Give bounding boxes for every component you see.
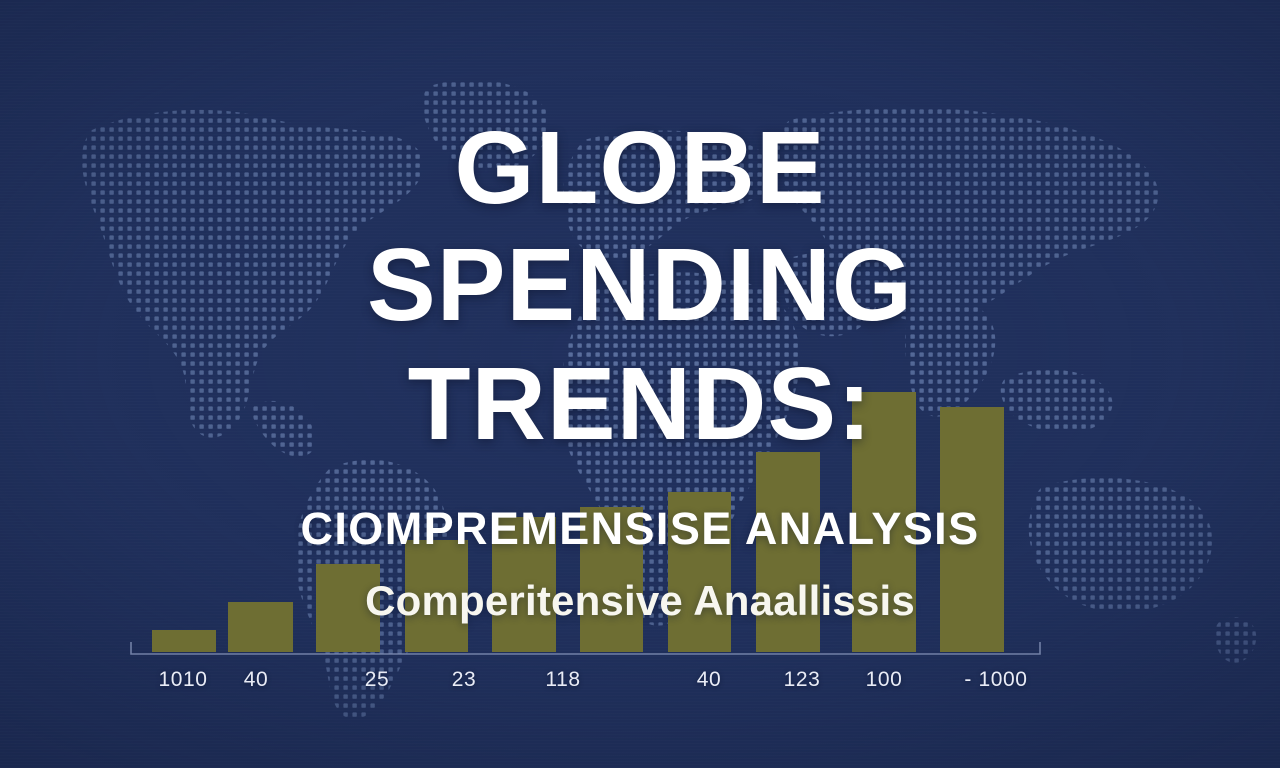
title-block: GLOBE SPENDING TRENDS: CIOMPREMENSISE AN…	[0, 118, 1280, 625]
subtitle-lowercase: Comperitensive Anaallissis	[0, 577, 1280, 625]
axis-tick-label: 23	[452, 668, 477, 692]
axis-tick-label: 25	[365, 668, 390, 692]
title-line-3: TRENDS:	[0, 354, 1280, 455]
poster-canvas: GLOBE SPENDING TRENDS: CIOMPREMENSISE AN…	[0, 0, 1280, 768]
axis-tick-label: 40	[244, 668, 269, 692]
axis-tick-label: 40	[697, 668, 722, 692]
axis-tick-label: 118	[545, 668, 580, 692]
chart-axis-labels: 101040252311840123100- 1000	[0, 668, 1280, 702]
axis-tick-label: - 1000	[964, 668, 1027, 692]
axis-tick-label: 123	[784, 668, 821, 692]
axis-tick-label: 100	[866, 668, 903, 692]
axis-tick-label: 1010	[158, 668, 207, 692]
subtitle-uppercase: CIOMPREMENSISE ANALYSIS	[0, 503, 1280, 555]
title-line-2: SPENDING	[0, 235, 1280, 336]
title-line-1: GLOBE	[0, 118, 1280, 219]
